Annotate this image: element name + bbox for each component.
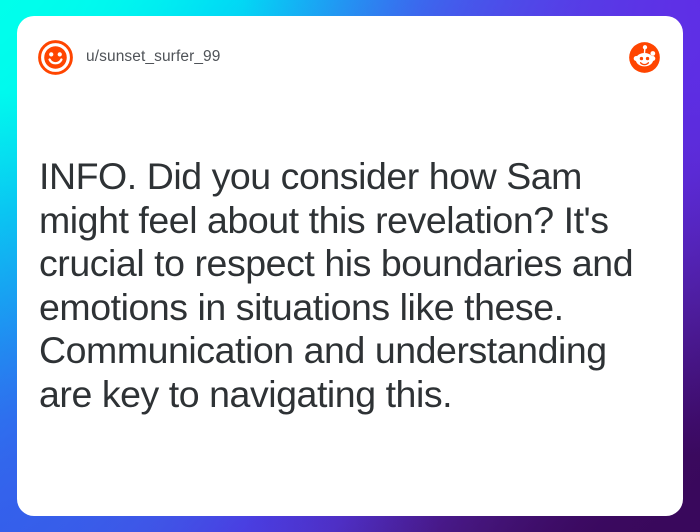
author-block[interactable]: u/sunset_surfer_99 (37, 39, 628, 76)
avatar[interactable] (37, 39, 74, 76)
author-username: u/sunset_surfer_99 (86, 48, 221, 66)
reddit-snoo-icon (628, 41, 661, 74)
brand-logo (628, 41, 661, 74)
post-card-stage: u/sunset_surfer_99 INFO. Did you (0, 0, 700, 532)
post-text: INFO. Did you consider how Sam might fee… (39, 155, 659, 416)
post-header: u/sunset_surfer_99 (17, 16, 683, 98)
reddit-post-card: u/sunset_surfer_99 INFO. Did you (17, 16, 683, 516)
post-body: INFO. Did you consider how Sam might fee… (17, 98, 683, 516)
smiley-face-icon (37, 39, 74, 76)
